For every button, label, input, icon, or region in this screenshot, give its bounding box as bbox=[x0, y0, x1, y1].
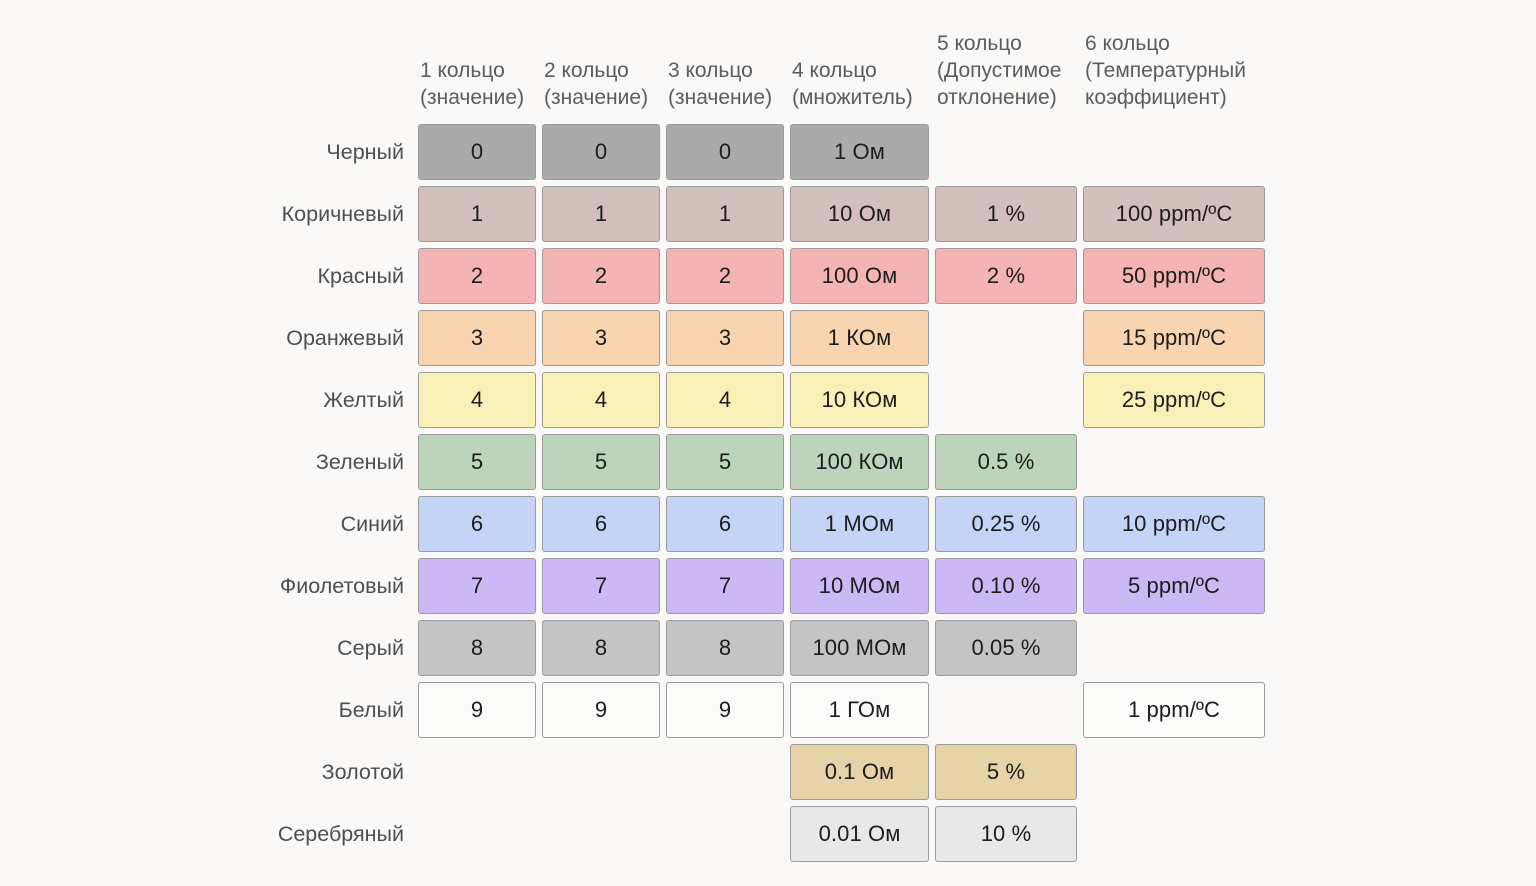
row-label-8: Серый bbox=[262, 620, 412, 676]
cell-ring3: 1 bbox=[666, 186, 784, 242]
cell-value: 3 bbox=[418, 310, 536, 366]
cell-value: 3 bbox=[542, 310, 660, 366]
cell-ring1: 7 bbox=[418, 558, 536, 614]
cell-ring2: 7 bbox=[542, 558, 660, 614]
cell-ring6: 25 ppm/ºC bbox=[1083, 372, 1265, 428]
cell-value: 2 bbox=[418, 248, 536, 304]
cell-value: 5 bbox=[542, 434, 660, 490]
table-row: Фиолетовый77710 МОм0.10 %5 ppm/ºC bbox=[262, 558, 1265, 614]
cell-ring6: 50 ppm/ºC bbox=[1083, 248, 1265, 304]
row-label-10: Золотой bbox=[262, 744, 412, 800]
cell-ring5: 0.10 % bbox=[935, 558, 1077, 614]
cell-value: 15 ppm/ºC bbox=[1083, 310, 1265, 366]
table-row: Серый888100 МОм0.05 % bbox=[262, 620, 1265, 676]
cell-ring2: 3 bbox=[542, 310, 660, 366]
table-row: Оранжевый3331 КОм15 ppm/ºC bbox=[262, 310, 1265, 366]
table-row: Белый9991 ГОм1 ppm/ºC bbox=[262, 682, 1265, 738]
cell-ring4: 0.01 Ом bbox=[790, 806, 929, 862]
cell-value: 1 % bbox=[935, 186, 1077, 242]
cell-ring4: 10 КОм bbox=[790, 372, 929, 428]
header-ring4: 4 кольцо (множитель) bbox=[790, 14, 929, 118]
header-ring6: 6 кольцо (Температурный коэффициент) bbox=[1083, 14, 1265, 118]
cell-value: 0.05 % bbox=[935, 620, 1077, 676]
cell-value: 5 bbox=[666, 434, 784, 490]
cell-ring1: 2 bbox=[418, 248, 536, 304]
cell-value: 1 bbox=[666, 186, 784, 242]
cell-value: 5 bbox=[418, 434, 536, 490]
cell-ring2: 5 bbox=[542, 434, 660, 490]
cell-ring3: 8 bbox=[666, 620, 784, 676]
cell-value: 100 КОм bbox=[790, 434, 929, 490]
cell-ring6: 5 ppm/ºC bbox=[1083, 558, 1265, 614]
cell-value: 7 bbox=[666, 558, 784, 614]
row-label-2: Красный bbox=[262, 248, 412, 304]
row-label-3: Оранжевый bbox=[262, 310, 412, 366]
cell-value: 2 bbox=[666, 248, 784, 304]
cell-value: 0.1 Ом bbox=[790, 744, 929, 800]
table-row: Коричневый11110 Ом1 %100 ppm/ºC bbox=[262, 186, 1265, 242]
table-row: Синий6661 МОм0.25 %10 ppm/ºC bbox=[262, 496, 1265, 552]
cell-ring3: 3 bbox=[666, 310, 784, 366]
row-label-6: Синий bbox=[262, 496, 412, 552]
cell-value: 7 bbox=[542, 558, 660, 614]
header-ring3: 3 кольцо (значение) bbox=[666, 14, 784, 118]
table-row: Золотой0.1 Ом5 % bbox=[262, 744, 1265, 800]
cell-ring2: 0 bbox=[542, 124, 660, 180]
cell-ring1: 8 bbox=[418, 620, 536, 676]
header-ring5: 5 кольцо (Допустимое отклонение) bbox=[935, 14, 1077, 118]
table-row: Зеленый555100 КОм0.5 % bbox=[262, 434, 1265, 490]
cell-ring2: 6 bbox=[542, 496, 660, 552]
cell-ring5-empty bbox=[935, 372, 1077, 428]
table-row: Серебряный0.01 Ом10 % bbox=[262, 806, 1265, 862]
cell-ring5: 0.5 % bbox=[935, 434, 1077, 490]
resistor-color-code-table: 1 кольцо (значение) 2 кольцо (значение) … bbox=[256, 8, 1271, 868]
cell-value: 6 bbox=[418, 496, 536, 552]
header-row: 1 кольцо (значение) 2 кольцо (значение) … bbox=[262, 14, 1265, 118]
table-row: Черный0001 Ом bbox=[262, 124, 1265, 180]
cell-value: 7 bbox=[418, 558, 536, 614]
cell-value: 6 bbox=[542, 496, 660, 552]
header-ring1: 1 кольцо (значение) bbox=[418, 14, 536, 118]
cell-ring3: 4 bbox=[666, 372, 784, 428]
row-label-9: Белый bbox=[262, 682, 412, 738]
cell-value: 2 % bbox=[935, 248, 1077, 304]
cell-ring4: 10 Ом bbox=[790, 186, 929, 242]
cell-value: 5 ppm/ºC bbox=[1083, 558, 1265, 614]
cell-value: 0.25 % bbox=[935, 496, 1077, 552]
cell-ring3: 2 bbox=[666, 248, 784, 304]
cell-ring3: 0 bbox=[666, 124, 784, 180]
cell-ring3: 5 bbox=[666, 434, 784, 490]
cell-ring1: 9 bbox=[418, 682, 536, 738]
cell-ring5: 2 % bbox=[935, 248, 1077, 304]
row-label-7: Фиолетовый bbox=[262, 558, 412, 614]
cell-value: 10 % bbox=[935, 806, 1077, 862]
cell-ring3-empty bbox=[666, 806, 784, 862]
cell-ring2: 1 bbox=[542, 186, 660, 242]
cell-value: 9 bbox=[666, 682, 784, 738]
cell-value: 8 bbox=[542, 620, 660, 676]
cell-value: 50 ppm/ºC bbox=[1083, 248, 1265, 304]
cell-ring5: 0.25 % bbox=[935, 496, 1077, 552]
cell-ring1: 0 bbox=[418, 124, 536, 180]
cell-ring5-empty bbox=[935, 682, 1077, 738]
cell-value: 0.10 % bbox=[935, 558, 1077, 614]
cell-value: 0 bbox=[418, 124, 536, 180]
cell-ring4: 100 МОм bbox=[790, 620, 929, 676]
cell-ring2: 8 bbox=[542, 620, 660, 676]
cell-ring5: 1 % bbox=[935, 186, 1077, 242]
cell-ring4: 1 ГОм bbox=[790, 682, 929, 738]
cell-value: 1 bbox=[542, 186, 660, 242]
cell-ring6-empty bbox=[1083, 434, 1265, 490]
cell-ring1: 3 bbox=[418, 310, 536, 366]
cell-ring6: 100 ppm/ºC bbox=[1083, 186, 1265, 242]
cell-value: 0 bbox=[666, 124, 784, 180]
cell-value: 3 bbox=[666, 310, 784, 366]
cell-ring1: 4 bbox=[418, 372, 536, 428]
cell-ring2: 2 bbox=[542, 248, 660, 304]
cell-ring3: 9 bbox=[666, 682, 784, 738]
cell-value: 10 МОм bbox=[790, 558, 929, 614]
cell-value: 0 bbox=[542, 124, 660, 180]
cell-ring1: 1 bbox=[418, 186, 536, 242]
cell-value: 6 bbox=[666, 496, 784, 552]
cell-ring3: 7 bbox=[666, 558, 784, 614]
cell-value: 10 Ом bbox=[790, 186, 929, 242]
cell-value: 9 bbox=[542, 682, 660, 738]
cell-ring5-empty bbox=[935, 124, 1077, 180]
cell-ring6: 10 ppm/ºC bbox=[1083, 496, 1265, 552]
cell-ring6-empty bbox=[1083, 744, 1265, 800]
cell-ring5: 0.05 % bbox=[935, 620, 1077, 676]
cell-value: 8 bbox=[418, 620, 536, 676]
cell-ring4: 1 Ом bbox=[790, 124, 929, 180]
cell-ring2: 4 bbox=[542, 372, 660, 428]
cell-value: 100 МОм bbox=[790, 620, 929, 676]
cell-value: 4 bbox=[666, 372, 784, 428]
cell-value: 1 МОм bbox=[790, 496, 929, 552]
cell-value: 8 bbox=[666, 620, 784, 676]
cell-ring2-empty bbox=[542, 744, 660, 800]
cell-ring4: 0.1 Ом bbox=[790, 744, 929, 800]
cell-ring6-empty bbox=[1083, 124, 1265, 180]
cell-ring5: 10 % bbox=[935, 806, 1077, 862]
row-label-0: Черный bbox=[262, 124, 412, 180]
cell-value: 4 bbox=[542, 372, 660, 428]
cell-ring1-empty bbox=[418, 744, 536, 800]
cell-ring4: 100 КОм bbox=[790, 434, 929, 490]
cell-value: 2 bbox=[542, 248, 660, 304]
table-body: Черный0001 ОмКоричневый11110 Ом1 %100 pp… bbox=[262, 124, 1265, 862]
cell-value: 9 bbox=[418, 682, 536, 738]
cell-ring6: 15 ppm/ºC bbox=[1083, 310, 1265, 366]
cell-value: 1 КОм bbox=[790, 310, 929, 366]
resistor-color-code-table-container: 1 кольцо (значение) 2 кольцо (значение) … bbox=[0, 0, 1536, 886]
cell-ring4: 1 КОм bbox=[790, 310, 929, 366]
table-row: Желтый44410 КОм25 ppm/ºC bbox=[262, 372, 1265, 428]
cell-ring3-empty bbox=[666, 744, 784, 800]
cell-ring4: 100 Ом bbox=[790, 248, 929, 304]
cell-value: 10 КОм bbox=[790, 372, 929, 428]
cell-ring5-empty bbox=[935, 310, 1077, 366]
cell-value: 5 % bbox=[935, 744, 1077, 800]
header-ring2: 2 кольцо (значение) bbox=[542, 14, 660, 118]
cell-value: 0.01 Ом bbox=[790, 806, 929, 862]
cell-value: 10 ppm/ºC bbox=[1083, 496, 1265, 552]
row-label-11: Серебряный bbox=[262, 806, 412, 862]
cell-ring6-empty bbox=[1083, 620, 1265, 676]
cell-ring4: 10 МОм bbox=[790, 558, 929, 614]
cell-value: 100 Ом bbox=[790, 248, 929, 304]
cell-ring1: 5 bbox=[418, 434, 536, 490]
cell-value: 1 ГОм bbox=[790, 682, 929, 738]
cell-ring6-empty bbox=[1083, 806, 1265, 862]
cell-value: 100 ppm/ºC bbox=[1083, 186, 1265, 242]
cell-value: 1 bbox=[418, 186, 536, 242]
cell-ring1: 6 bbox=[418, 496, 536, 552]
cell-ring1-empty bbox=[418, 806, 536, 862]
row-label-1: Коричневый bbox=[262, 186, 412, 242]
cell-value: 1 Ом bbox=[790, 124, 929, 180]
cell-value: 4 bbox=[418, 372, 536, 428]
cell-ring5: 5 % bbox=[935, 744, 1077, 800]
header-color-column bbox=[262, 14, 412, 118]
table-row: Красный222100 Ом2 %50 ppm/ºC bbox=[262, 248, 1265, 304]
cell-ring4: 1 МОм bbox=[790, 496, 929, 552]
cell-ring2: 9 bbox=[542, 682, 660, 738]
cell-value: 0.5 % bbox=[935, 434, 1077, 490]
cell-value: 25 ppm/ºC bbox=[1083, 372, 1265, 428]
cell-ring2-empty bbox=[542, 806, 660, 862]
table-header: 1 кольцо (значение) 2 кольцо (значение) … bbox=[262, 14, 1265, 118]
cell-value: 1 ppm/ºC bbox=[1083, 682, 1265, 738]
cell-ring6: 1 ppm/ºC bbox=[1083, 682, 1265, 738]
cell-ring3: 6 bbox=[666, 496, 784, 552]
row-label-5: Зеленый bbox=[262, 434, 412, 490]
row-label-4: Желтый bbox=[262, 372, 412, 428]
